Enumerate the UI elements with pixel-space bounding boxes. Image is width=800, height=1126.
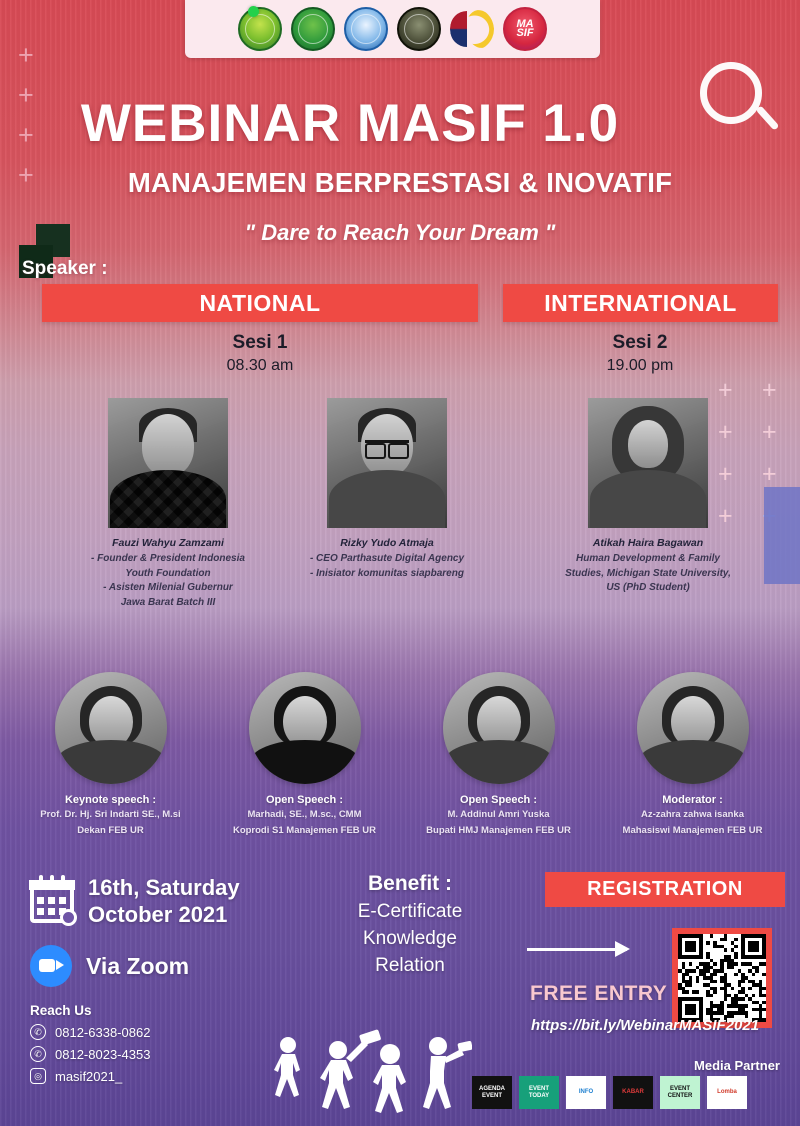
contact-row: ✆ 0812-8023-4353 [30, 1046, 150, 1062]
panel-photo [249, 672, 361, 784]
plus-decoration-icon: + [762, 420, 777, 445]
panel-name: Marhadi, SE., M.sc., CMM [212, 808, 397, 822]
media-partner-event-center: EVENT CENTER [660, 1076, 700, 1109]
speaker-name: Rizky Yudo Atmaja [272, 537, 502, 549]
calendar-clock-icon [30, 881, 74, 923]
event-date-line2: October 2021 [88, 902, 240, 929]
phone-icon: ✆ [30, 1046, 46, 1062]
plus-decoration-icon: + [762, 378, 777, 403]
speaker-photo [588, 398, 708, 528]
contact-value: masif2021_ [55, 1069, 122, 1084]
contact-value: 0812-6338-0862 [55, 1025, 150, 1040]
page-subtitle: MANAJEMEN BERPRESTASI & INOVATIF [0, 167, 800, 199]
media-partner-event-today: EVENT TODAY [519, 1076, 559, 1109]
phone-icon: ✆ [30, 1024, 46, 1040]
panel-photo [55, 672, 167, 784]
panel-affiliation: Mahasiswi Manajemen FEB UR [600, 824, 785, 838]
qr-code[interactable] [672, 928, 772, 1028]
registration-banner: REGISTRATION [545, 872, 785, 907]
contact-row: ◎ masif2021_ [30, 1068, 150, 1084]
session-2-time: 19.00 pm [540, 357, 740, 375]
logo-tut-wuri-handayani-yellow [238, 7, 282, 51]
panel-member: Keynote speech : Prof. Dr. Hj. Sri Indar… [18, 672, 203, 839]
contact-value: 0812-8023-4353 [55, 1047, 150, 1062]
free-entry-label: FREE ENTRY [530, 982, 667, 1006]
speaker-section-label: Speaker : [22, 258, 108, 280]
panel-name: Prof. Dr. Hj. Sri Indarti SE., M.si [18, 808, 203, 822]
speaker-card: Rizky Yudo Atmaja - CEO Parthasute Digit… [272, 398, 502, 581]
qr-code-image [678, 934, 766, 1022]
people-silhouettes [262, 1028, 472, 1120]
banner-national: NATIONAL [42, 284, 478, 322]
panel-name: M. Addinul Amri Yuska [406, 808, 591, 822]
panel-affiliation: Bupati HMJ Manajemen FEB UR [406, 824, 591, 838]
event-date-block: 16th, Saturday October 2021 [30, 875, 240, 929]
panel-photo [443, 672, 555, 784]
registration-url[interactable]: https://bit.ly/WebinarMASIF2021 [500, 1017, 790, 1034]
session-1: Sesi 1 08.30 am [160, 332, 360, 375]
session-2-name: Sesi 2 [540, 332, 740, 354]
speaker-name: Fauzi Wahyu Zamzami [53, 537, 283, 549]
panel-role: Open Speech : [212, 794, 397, 806]
green-dot-decoration [248, 6, 259, 17]
panel-affiliation: Koprodi S1 Manajemen FEB UR [212, 824, 397, 838]
benefit-title: Benefit : [320, 872, 500, 896]
blue-accent-block [764, 487, 800, 584]
panel-member: Open Speech : M. Addinul Amri Yuska Bupa… [406, 672, 591, 839]
logo-masif: MA SIF [503, 7, 547, 51]
speaker-card: Atikah Haira Bagawan Human Development &… [533, 398, 763, 596]
banner-international: INTERNATIONAL [503, 284, 778, 322]
webinar-poster: + + + + + + + + + + + + MA SIF WEBINAR M… [0, 0, 800, 1126]
logo-masif-line2: SIF [516, 29, 533, 38]
panel-affiliation: Dekan FEB UR [18, 824, 203, 838]
panel-role: Open Speech : [406, 794, 591, 806]
panel-member: Moderator : Az-zahra zahwa isanka Mahasi… [600, 672, 785, 839]
panel-name: Az-zahra zahwa isanka [600, 808, 785, 822]
magnifying-glass-icon [700, 62, 762, 124]
media-partner-logos: AGENDA EVENT EVENT TODAY INFO KABAR EVEN… [472, 1076, 747, 1109]
arrow-right-icon [527, 948, 627, 951]
benefit-item: Knowledge [320, 928, 500, 950]
event-platform-block: Via Zoom [30, 945, 189, 987]
event-platform: Via Zoom [86, 953, 189, 980]
media-partner-agenda-event: AGENDA EVENT [472, 1076, 512, 1109]
speaker-description: - CEO Parthasute Digital Agency - Inisia… [272, 552, 502, 581]
reach-us-block: Reach Us ✆ 0812-6338-0862 ✆ 0812-8023-43… [30, 1003, 150, 1084]
speaker-description: - Founder & President Indonesia Youth Fo… [53, 552, 283, 610]
event-date-line1: 16th, Saturday [88, 875, 240, 902]
panel-member: Open Speech : Marhadi, SE., M.sc., CMM K… [212, 672, 397, 839]
media-partner-kabar: KABAR [613, 1076, 653, 1109]
event-date: 16th, Saturday October 2021 [88, 875, 240, 929]
silhouette-figures-icon [262, 1028, 472, 1120]
page-tagline: " Dare to Reach Your Dream " [0, 220, 800, 246]
page-title: WEBINAR MASIF 1.0 [0, 93, 700, 154]
speaker-name: Atikah Haira Bagawan [533, 537, 763, 549]
instagram-icon: ◎ [30, 1068, 46, 1084]
session-1-time: 08.30 am [160, 357, 360, 375]
media-partner-title: Media Partner [694, 1058, 780, 1073]
session-1-name: Sesi 1 [160, 332, 360, 354]
video-camera-icon [30, 945, 72, 987]
logo-feb-ur [397, 7, 441, 51]
session-2: Sesi 2 19.00 pm [540, 332, 740, 375]
panel-role: Moderator : [600, 794, 785, 806]
plus-decoration-icon: + [762, 462, 777, 487]
logo-hmj-manajemen [450, 7, 494, 51]
logo-universitas-riau [344, 7, 388, 51]
benefit-block: Benefit : E-Certificate Knowledge Relati… [320, 872, 500, 977]
organization-logo-bar: MA SIF [185, 0, 600, 58]
panel-role: Keynote speech : [18, 794, 203, 806]
benefit-item: Relation [320, 955, 500, 977]
contact-row: ✆ 0812-6338-0862 [30, 1024, 150, 1040]
logo-tut-wuri-handayani-green [291, 7, 335, 51]
panel-photo [637, 672, 749, 784]
media-partner-info: INFO [566, 1076, 606, 1109]
benefit-item: E-Certificate [320, 901, 500, 923]
speaker-card: Fauzi Wahyu Zamzami - Founder & Presiden… [53, 398, 283, 610]
reach-us-title: Reach Us [30, 1003, 150, 1018]
speaker-photo [108, 398, 228, 528]
plus-decoration-icon: + [18, 42, 34, 69]
speaker-description: Human Development & Family Studies, Mich… [533, 552, 763, 596]
speaker-photo [327, 398, 447, 528]
media-partner-lomba: Lomba [707, 1076, 747, 1109]
